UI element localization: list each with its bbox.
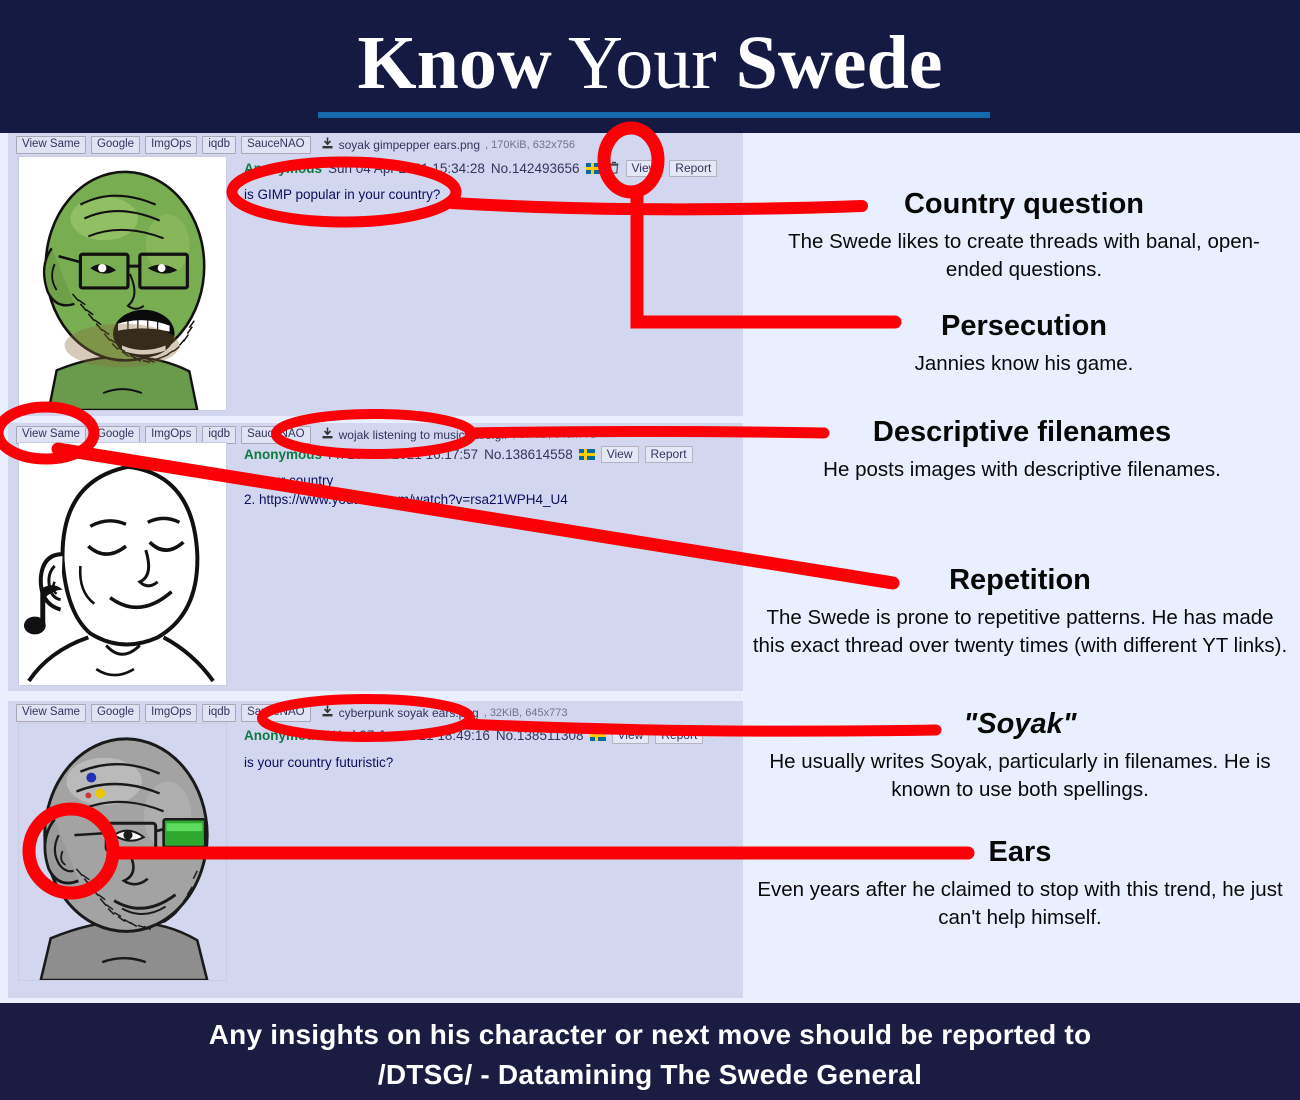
marker-circle-country-question <box>232 162 456 222</box>
marker-line-soyak <box>466 724 936 731</box>
footer-line-2: /DTSG/ - Datamining The Swede General <box>60 1055 1240 1095</box>
marker-circle-descriptive-filenames <box>276 414 472 454</box>
marker-line-descriptive-filenames <box>470 432 824 434</box>
marker-line-repetition <box>58 449 893 583</box>
red-marker-overlay <box>0 0 1300 1100</box>
footer-line-1: Any insights on his character or next mo… <box>60 1015 1240 1055</box>
infographic-page: Know Your Swede View Same Google ImgOps … <box>0 0 1300 1100</box>
marker-circle-persecution <box>604 128 658 192</box>
marker-line-country-question <box>452 203 862 209</box>
footer-banner: Any insights on his character or next mo… <box>0 1003 1300 1100</box>
footer-text: Any insights on his character or next mo… <box>60 1015 1240 1095</box>
marker-circle-soyak <box>262 699 470 737</box>
marker-circle-ears <box>29 809 113 893</box>
